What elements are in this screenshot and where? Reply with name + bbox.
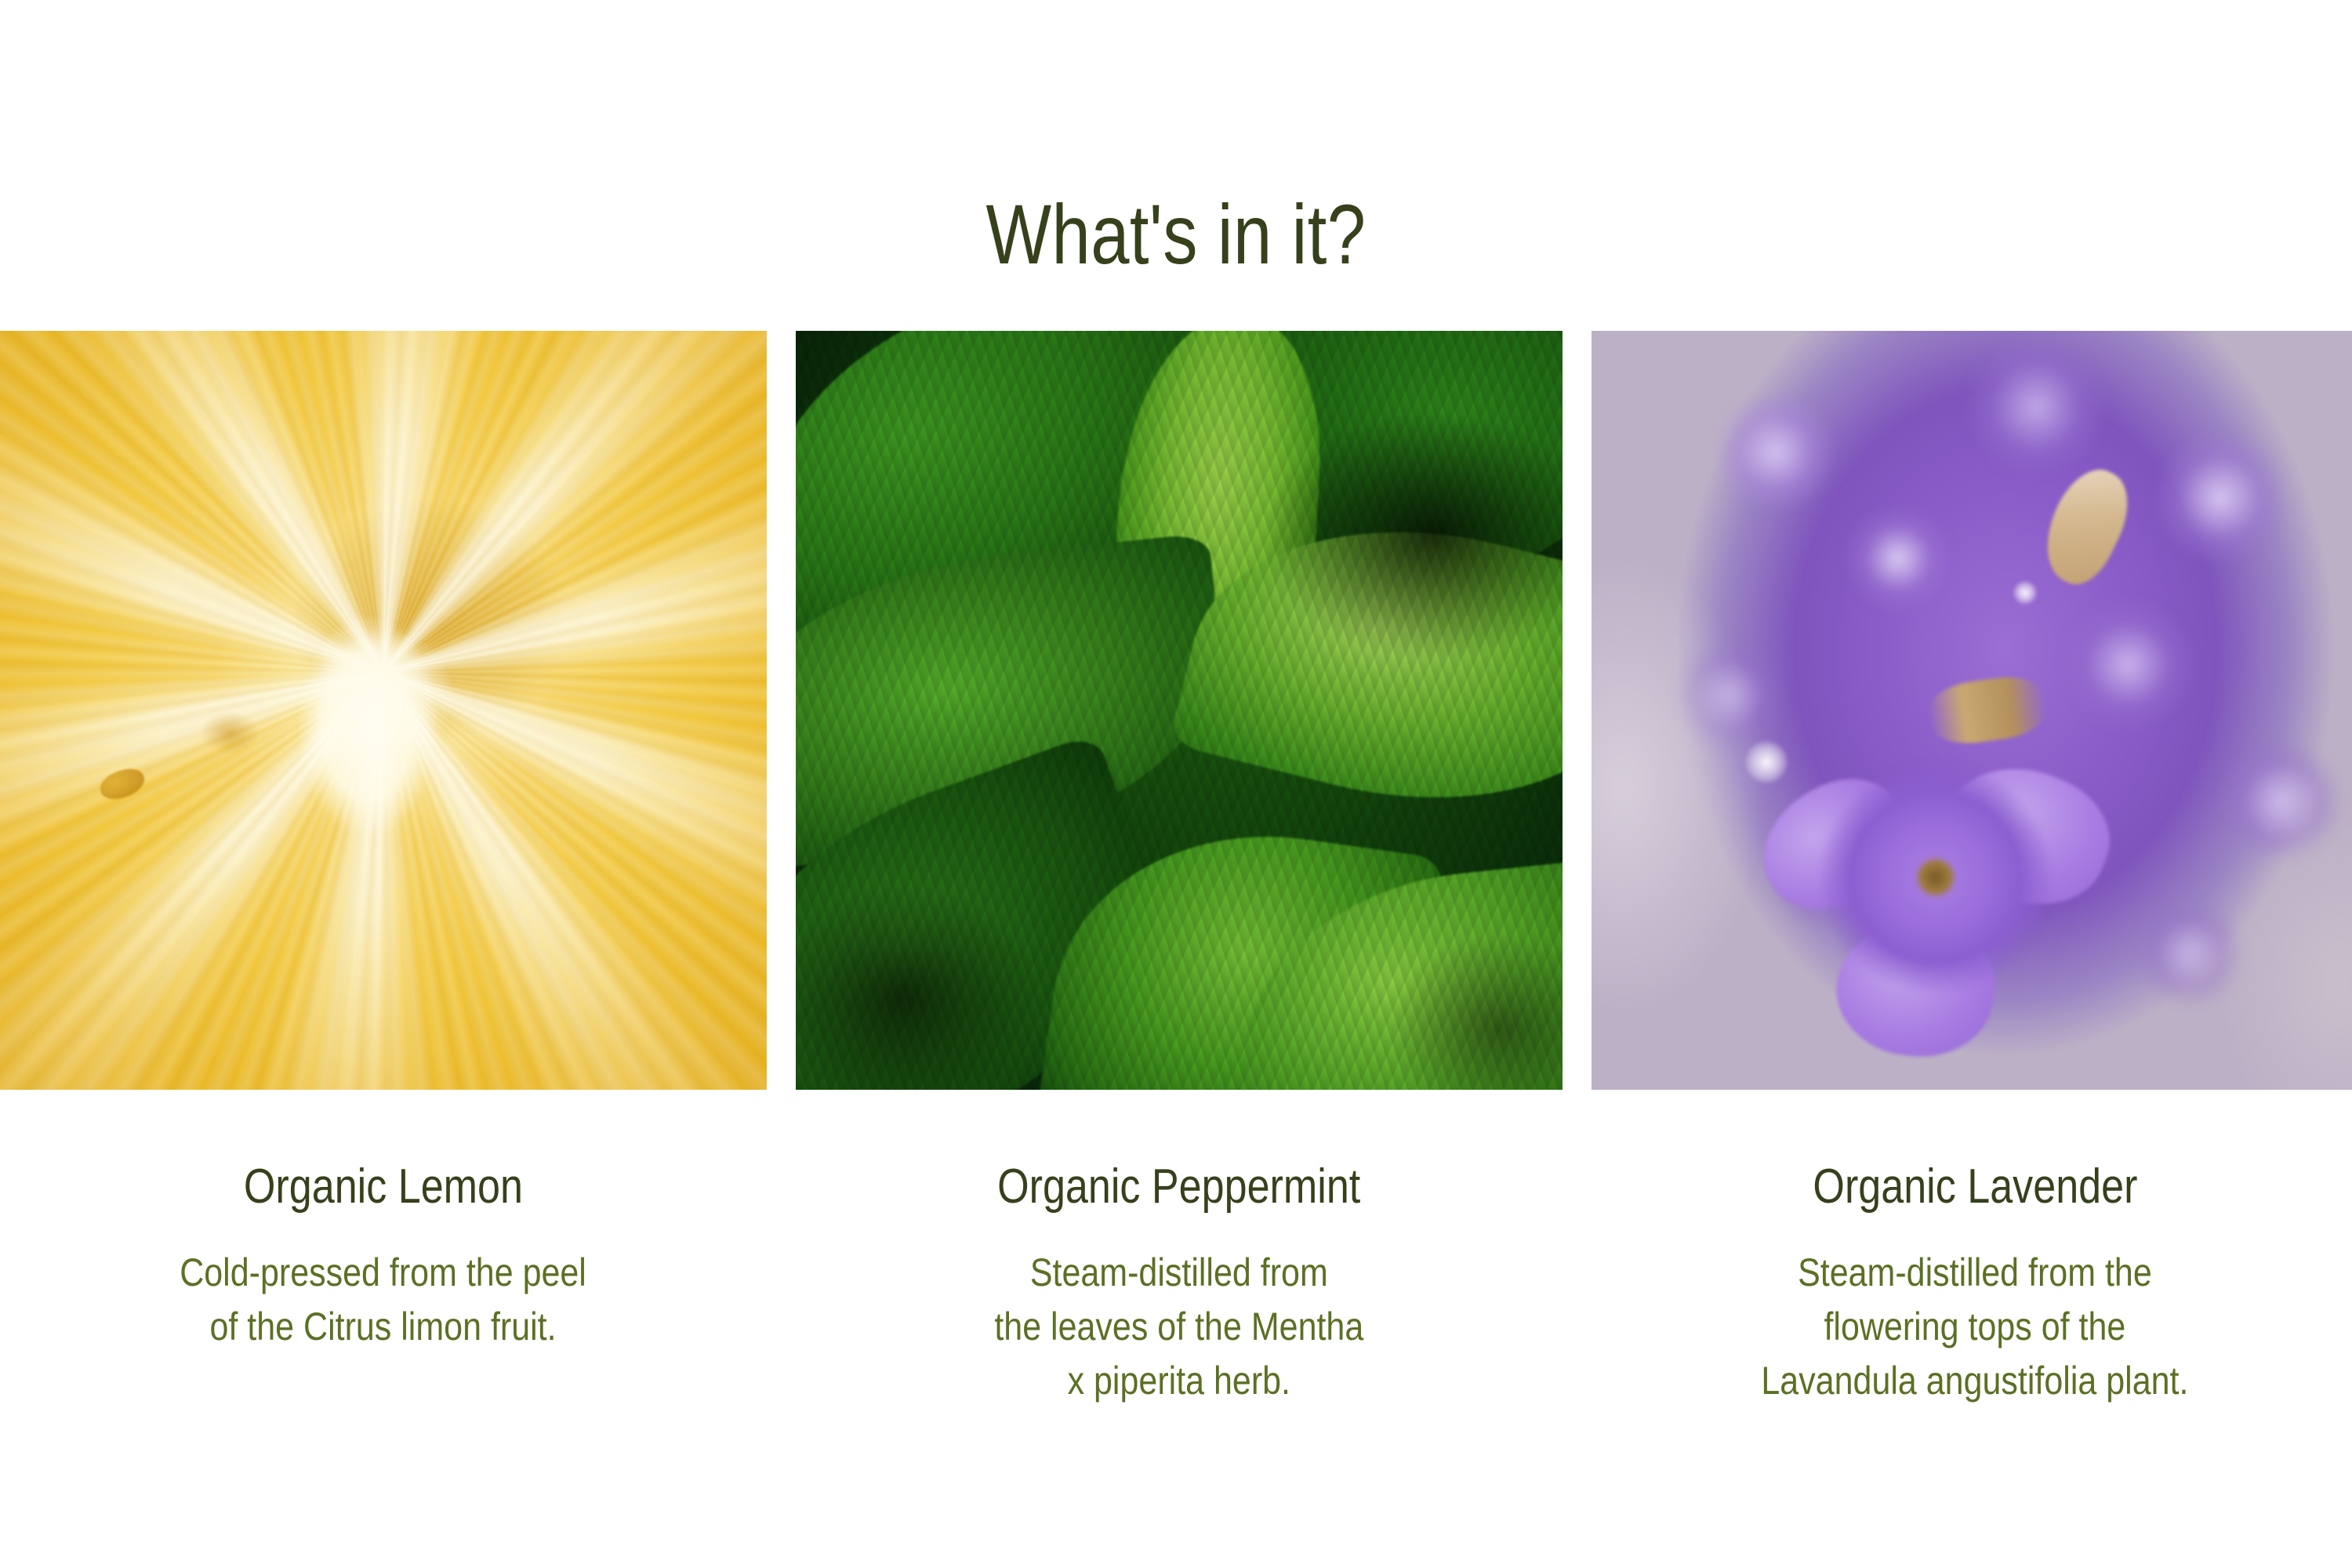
ingredient-title: Organic Lavender [1813, 1159, 2137, 1214]
lavender-flowers-photo [1592, 331, 2352, 1090]
ingredient-card-peppermint: Organic Peppermint Steam-distilled from … [796, 331, 1563, 1408]
mint-shadow-overlay [796, 331, 1563, 1090]
page-title: What's in it? [212, 188, 2140, 281]
ingredients-section: What's in it? Organic Lemon Cold-pressed… [0, 0, 2352, 1568]
ingredient-title: Organic Peppermint [997, 1159, 1360, 1214]
ingredient-card-list: Organic Lemon Cold-pressed from the peel… [0, 331, 2352, 1408]
ingredient-description: Steam-distilled from the flowering tops … [1761, 1246, 2188, 1408]
peppermint-leaves-photo [796, 331, 1563, 1090]
ingredient-description: Steam-distilled from the leaves of the M… [995, 1246, 1364, 1408]
ingredient-card-lemon: Organic Lemon Cold-pressed from the peel… [0, 331, 767, 1408]
lavender-background-blur [1592, 331, 2352, 1090]
lemon-pith-core [0, 331, 767, 1090]
ingredient-description: Cold-pressed from the peel of the Citrus… [180, 1246, 587, 1354]
ingredient-title: Organic Lemon [244, 1159, 523, 1214]
lemon-cross-section-photo [0, 331, 767, 1090]
ingredient-card-lavender: Organic Lavender Steam-distilled from th… [1592, 331, 2352, 1408]
